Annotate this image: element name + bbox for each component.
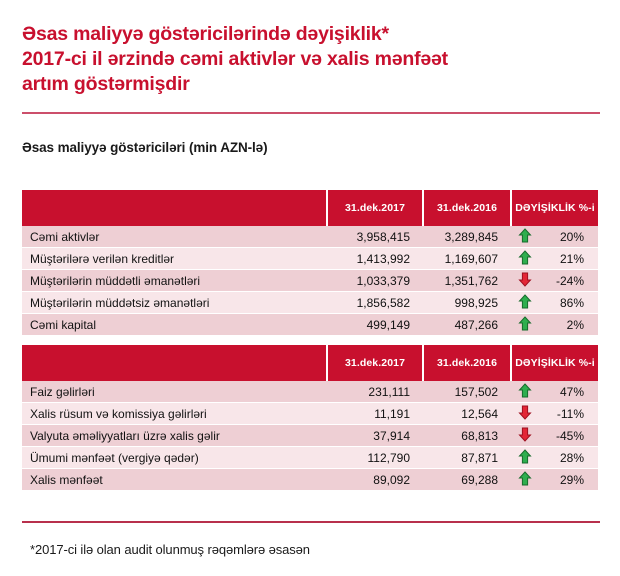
arrow-up-icon [518,383,534,401]
arrow-up-icon [518,294,534,312]
table-row: Ümumi mənfəət (vergiyə qədər)112,79087,8… [22,447,598,469]
row-change: 28% [512,447,598,469]
row-value-current: 89,092 [328,469,424,491]
row-change-value: -24% [534,274,598,288]
row-value-previous: 87,871 [424,447,512,469]
row-value-current: 1,413,992 [328,248,424,270]
row-value-current: 1,033,379 [328,270,424,292]
arrow-down-icon [518,272,534,290]
row-change: 29% [512,469,598,491]
row-change-value: 20% [534,230,598,244]
row-change-value: 2% [534,318,598,332]
row-change: -11% [512,403,598,425]
row-label: Xalis mənfəət [22,469,328,491]
table-income-body: Faiz gəlirləri231,111157,50247%Xalis rüs… [22,381,598,491]
title-divider [22,112,600,114]
row-value-current: 499,149 [328,314,424,336]
arrow-up-icon [518,228,534,246]
column-header-change: DƏYİŞİKLİK %-i [512,190,598,226]
arrow-up-icon [518,316,534,334]
table-row: Xalis rüsum və komissiya gəlirləri11,191… [22,403,598,425]
column-header-year-current: 31.dek.2017 [328,190,424,226]
row-change: 2% [512,314,598,336]
row-value-previous: 3,289,845 [424,226,512,248]
row-value-current: 11,191 [328,403,424,425]
row-value-previous: 68,813 [424,425,512,447]
row-value-previous: 1,351,762 [424,270,512,292]
table-row: Müştərilərin müddətsiz əmanətləri1,856,5… [22,292,598,314]
row-value-previous: 12,564 [424,403,512,425]
row-label: Müştərilərə verilən kreditlər [22,248,328,270]
row-change-value: -11% [534,407,598,421]
row-value-previous: 1,169,607 [424,248,512,270]
row-value-previous: 157,502 [424,381,512,403]
footer-divider [22,521,600,523]
row-change-value: 21% [534,252,598,266]
arrow-down-icon [518,405,534,423]
table-header-row: 31.dek.2017 31.dek.2016 DƏYİŞİKLİK %-i [22,190,598,226]
row-change: 20% [512,226,598,248]
row-value-current: 3,958,415 [328,226,424,248]
arrow-up-icon [518,449,534,467]
row-label: Cəmi kapital [22,314,328,336]
row-change: -45% [512,425,598,447]
row-label: Müştərilərin müddətli əmanətləri [22,270,328,292]
row-change-value: 29% [534,473,598,487]
arrow-down-icon [518,427,534,445]
row-label: Faiz gəlirləri [22,381,328,403]
table-row: Valyuta əməliyyatları üzrə xalis gəlir37… [22,425,598,447]
subtitle: Əsas maliyyə göstəriciləri (min AZN-lə) [22,140,268,155]
row-label: Müştərilərin müddətsiz əmanətləri [22,292,328,314]
title-line-1: Əsas maliyyə göstəricilərində dəyişiklik… [22,22,598,47]
table-row: Müştərilərə verilən kreditlər1,413,9921,… [22,248,598,270]
table-row: Cəmi kapital499,149487,2662% [22,314,598,336]
row-change: -24% [512,270,598,292]
title-line-3: artım göstərmişdir [22,72,598,97]
arrow-up-icon [518,471,534,489]
row-change-value: 86% [534,296,598,310]
column-header-label [22,190,328,226]
page-title: Əsas maliyyə göstəricilərində dəyişiklik… [22,22,598,97]
column-header-year-previous: 31.dek.2016 [424,190,512,226]
row-change-value: -45% [534,429,598,443]
row-change-value: 28% [534,451,598,465]
row-change: 86% [512,292,598,314]
row-value-current: 231,111 [328,381,424,403]
title-line-2: 2017-ci il ərzində cəmi aktivlər və xali… [22,47,598,72]
table-assets-body: Cəmi aktivlər3,958,4153,289,84520%Müştər… [22,226,598,336]
row-label: Valyuta əməliyyatları üzrə xalis gəlir [22,425,328,447]
row-change-value: 47% [534,385,598,399]
table-row: Xalis mənfəət89,09269,28829% [22,469,598,491]
row-change: 47% [512,381,598,403]
infographic-page: Əsas maliyyə göstəricilərində dəyişiklik… [0,0,620,576]
row-value-current: 37,914 [328,425,424,447]
row-value-current: 1,856,582 [328,292,424,314]
row-value-current: 112,790 [328,447,424,469]
row-label: Cəmi aktivlər [22,226,328,248]
column-header-label [22,345,328,381]
table-income: 31.dek.2017 31.dek.2016 DƏYİŞİKLİK %-i F… [22,345,598,491]
table-assets: 31.dek.2017 31.dek.2016 DƏYİŞİKLİK %-i C… [22,190,598,336]
footnote: *2017-ci ilə olan audit olunmuş rəqəmlər… [30,542,310,557]
column-header-year-current: 31.dek.2017 [328,345,424,381]
table-header-row: 31.dek.2017 31.dek.2016 DƏYİŞİKLİK %-i [22,345,598,381]
row-label: Xalis rüsum və komissiya gəlirləri [22,403,328,425]
table-row: Müştərilərin müddətli əmanətləri1,033,37… [22,270,598,292]
table-row: Cəmi aktivlər3,958,4153,289,84520% [22,226,598,248]
arrow-up-icon [518,250,534,268]
row-label: Ümumi mənfəət (vergiyə qədər) [22,447,328,469]
row-value-previous: 487,266 [424,314,512,336]
column-header-year-previous: 31.dek.2016 [424,345,512,381]
row-value-previous: 69,288 [424,469,512,491]
column-header-change: DƏYİŞİKLİK %-i [512,345,598,381]
row-value-previous: 998,925 [424,292,512,314]
row-change: 21% [512,248,598,270]
table-row: Faiz gəlirləri231,111157,50247% [22,381,598,403]
